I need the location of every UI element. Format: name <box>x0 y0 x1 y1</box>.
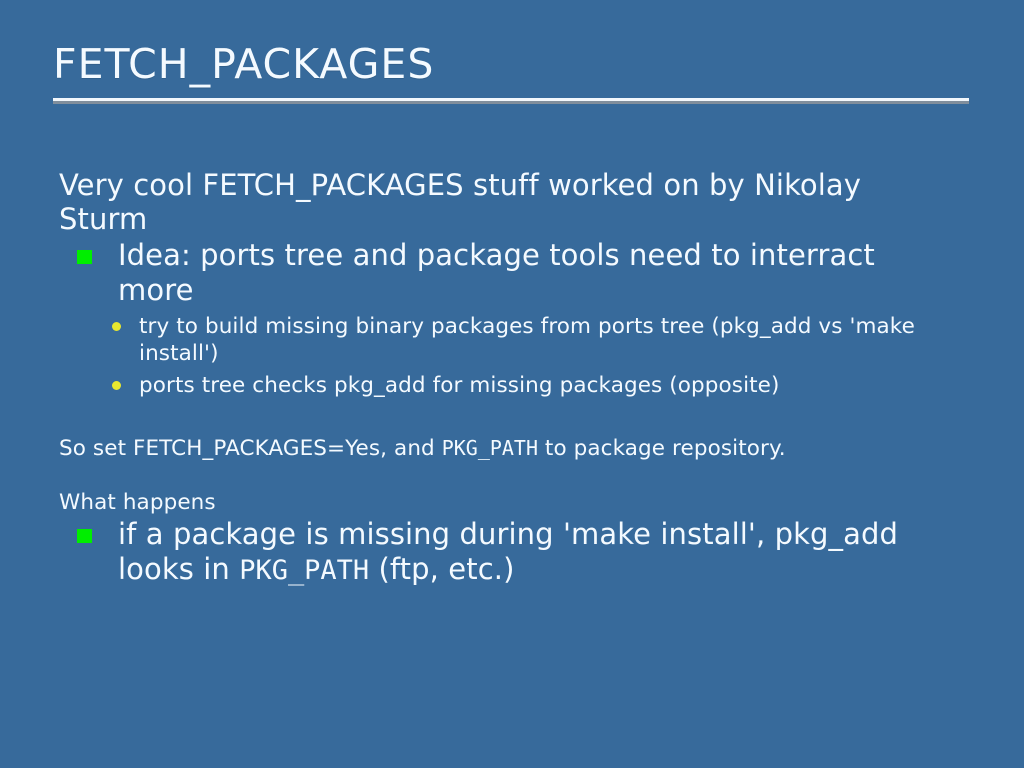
section-label-what-happens: What happens <box>59 489 952 516</box>
slide-body: Very cool FETCH_PACKAGES stuff worked on… <box>59 168 974 588</box>
note-paragraph: So set FETCH_PACKAGES=Yes, and PKG_PATH … <box>59 435 952 462</box>
spacer <box>59 462 974 489</box>
sub-bullet-ports-checks: ports tree checks pkg_add for missing pa… <box>108 372 929 399</box>
sub-bullet-build-missing-label: try to build missing binary packages fro… <box>139 314 915 366</box>
bullet2-text-after: (ftp, etc.) <box>369 552 514 586</box>
dot-bullet-icon <box>112 381 121 390</box>
square-bullet-icon <box>77 250 92 264</box>
slide-title-block: FETCH_PACKAGES <box>53 44 969 101</box>
bullet-item-idea: Idea: ports tree and package tools need … <box>77 238 956 308</box>
sub-bullet-build-missing: try to build missing binary packages fro… <box>108 313 929 367</box>
sub-bullet-ports-checks-label: ports tree checks pkg_add for missing pa… <box>139 373 780 398</box>
page-title: FETCH_PACKAGES <box>53 44 969 85</box>
bullet-item-missing-package-label: if a package is missing during 'make ins… <box>118 517 898 586</box>
note-text-after: to package repository. <box>538 436 786 461</box>
spacer <box>59 399 974 435</box>
square-bullet-icon <box>77 529 92 543</box>
note-text-before: So set FETCH_PACKAGES=Yes, and <box>59 436 442 461</box>
bullet-item-missing-package: if a package is missing during 'make ins… <box>77 517 956 588</box>
dot-bullet-icon <box>112 322 121 331</box>
bullet-item-idea-label: Idea: ports tree and package tools need … <box>118 238 875 307</box>
bullet2-pkg-path-variable: PKG_PATH <box>239 555 369 586</box>
note-pkg-path-variable: PKG_PATH <box>442 436 538 460</box>
intro-paragraph: Very cool FETCH_PACKAGES stuff worked on… <box>59 168 952 236</box>
presentation-slide: FETCH_PACKAGES Very cool FETCH_PACKAGES … <box>0 0 1024 768</box>
title-divider <box>53 98 969 101</box>
